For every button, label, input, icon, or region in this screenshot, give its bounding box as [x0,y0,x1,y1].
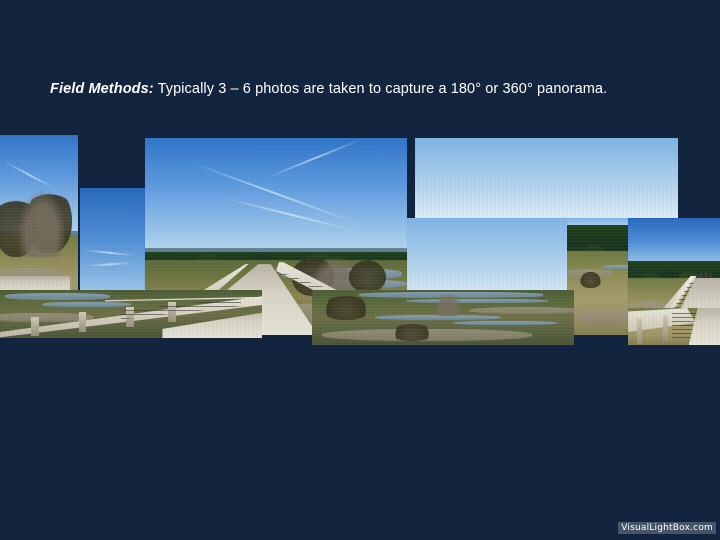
caption-body: Typically 3 – 6 photos are taken to capt… [154,81,608,97]
caption-lead: Field Methods: [50,81,154,97]
watermark-label: VisualLightBox.com [618,522,716,534]
photo-7-scene [312,290,574,345]
photo-4-scene [415,138,678,220]
slide-canvas: Field Methods: Typically 3 – 6 photos ar… [0,0,720,540]
slide-caption: Field Methods: Typically 3 – 6 photos ar… [50,80,690,99]
collage-photo-4[interactable] [415,138,678,220]
photo-10-scene [628,308,720,345]
collage-photo-7[interactable] [312,290,574,345]
collage-photo-10[interactable] [628,308,720,345]
collage-photo-8[interactable] [0,290,262,338]
photo-8-scene [0,290,262,338]
photo-collage [0,130,720,345]
